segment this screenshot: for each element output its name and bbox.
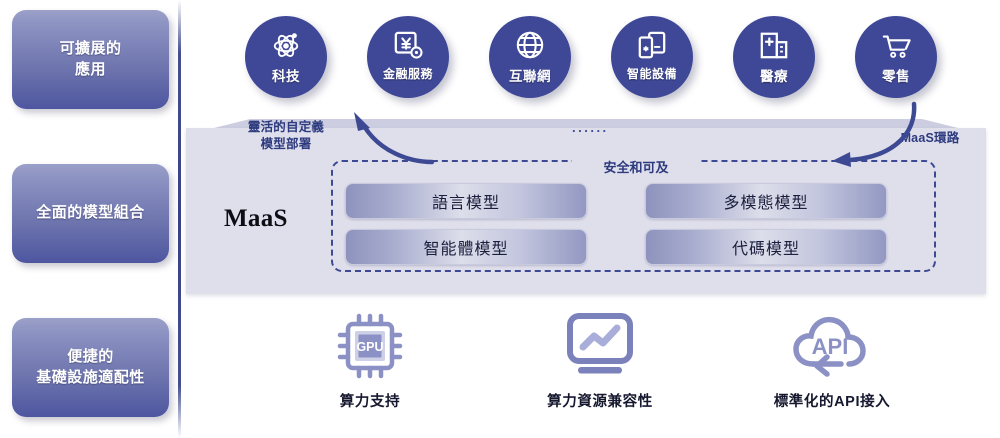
feature-standardized-api-access[interactable]: API 標準化的API接入 [732,308,932,411]
gpu-icon-text: GPU [356,340,383,354]
hospital-icon [759,30,789,60]
industry-circle-financial-services[interactable]: 金融服務 [367,16,449,98]
industry-label: 零售 [882,65,910,85]
rail-label: 全面的模型組合 [36,203,145,223]
feature-compute-resource-compatibility[interactable]: 算力資源兼容性 [500,308,700,411]
model-pill-label: 智能體模型 [423,235,508,259]
model-pill-label: 代碼模型 [732,235,800,259]
atom-icon [271,30,301,60]
model-pill-multimodal[interactable]: 多模態模型 [645,183,887,219]
gpu-chip-icon: GPU [334,310,406,382]
note-secure-and-accessible: 安全和可及 [572,157,700,176]
rail-item-convenient-infrastructure-adaptability[interactable]: 便捷的基礎設施適配性 [12,318,169,417]
diagram-canvas: 可擴展的應用 全面的模型組合 便捷的基礎設施適配性 MaaS 靈活的自定義模型部… [0,0,1000,438]
feature-label: 標準化的API接入 [732,390,932,411]
feature-label: 算力資源兼容性 [500,390,700,411]
globe-icon [515,30,545,60]
finance-document-icon [393,30,423,60]
industry-circle-smart-devices[interactable]: 智能設備 [611,16,693,98]
model-pill-code[interactable]: 代碼模型 [645,229,887,265]
shopping-cart-icon [881,30,911,60]
smart-devices-icon [637,30,667,60]
industry-circle-internet[interactable]: 互聯網 [489,16,571,98]
industry-circle-retail[interactable]: 零售 [855,16,937,98]
rail-label: 可擴展的應用 [59,39,121,80]
vertical-divider [178,0,181,438]
industry-label: 科技 [272,65,300,85]
industry-label: 智能設備 [627,65,677,82]
model-pill-label: 多模態模型 [723,189,808,213]
industry-label: 互聯網 [509,65,551,85]
feature-compute-support[interactable]: GPU 算力支持 [270,308,470,411]
industry-circle-healthcare[interactable]: 醫療 [733,16,815,98]
rail-item-scalable-applications[interactable]: 可擴展的應用 [12,10,169,109]
note-maas-loop: MaaS環路 [885,130,975,147]
ellipsis-indicator: ...... [572,120,632,135]
industry-label: 醫療 [760,65,788,85]
rail-item-comprehensive-model-portfolio[interactable]: 全面的模型組合 [12,164,169,263]
rail-label: 便捷的基礎設施適配性 [36,347,145,388]
maas-title: MaaS [224,205,288,233]
industry-label: 金融服務 [383,65,433,82]
feature-label: 算力支持 [270,390,470,411]
api-cloud-icon: API [791,312,873,380]
model-pill-agent[interactable]: 智能體模型 [345,229,587,265]
api-icon-text: API [812,334,849,359]
note-flexible-custom-model-deployment: 靈活的自定義模型部署 [231,119,341,153]
model-pill-label: 語言模型 [432,189,500,213]
industry-circle-technology[interactable]: 科技 [245,16,327,98]
model-pill-language[interactable]: 語言模型 [345,183,587,219]
monitor-chart-icon [561,311,639,381]
